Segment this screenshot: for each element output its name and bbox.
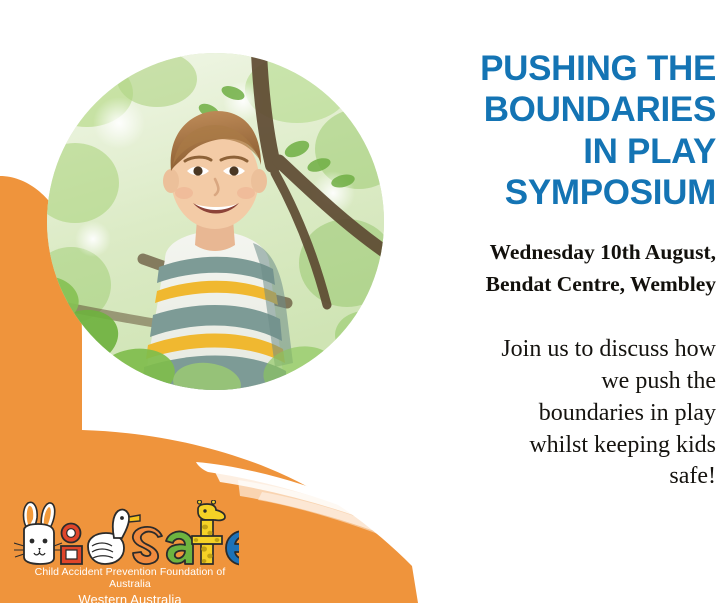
logo-letter-a: [166, 531, 193, 564]
logo-letter-s: [133, 527, 162, 564]
logo-letter-i: [61, 524, 82, 565]
poster-headline: PUSHING THE BOUNDARIES IN PLAY SYMPOSIUM: [424, 0, 716, 213]
event-date-line: Wednesday 10th August,: [424, 237, 716, 269]
event-details: Wednesday 10th August, Bendat Centre, We…: [424, 213, 716, 301]
headline-line-1: PUSHING THE: [424, 48, 716, 89]
hero-photo: [47, 53, 384, 390]
poster-canvas: PUSHING THE BOUNDARIES IN PLAY SYMPOSIUM…: [0, 0, 726, 603]
body-copy-line-2: we push the: [424, 366, 716, 398]
body-copy-line-3: boundaries in play: [424, 398, 716, 430]
body-copy-line-4: whilst keeping kids: [424, 430, 716, 462]
kidsafe-logo: ® Child Accident Prevention Foundation o…: [14, 500, 254, 596]
logo-region: Western Australia: [14, 593, 246, 603]
hero-photo-illustration: [47, 53, 384, 390]
headline-line-2: BOUNDARIES: [424, 89, 716, 130]
logo-letter-f-giraffe: [192, 500, 225, 564]
body-copy: Join us to discuss how we push the bound…: [424, 301, 716, 494]
logo-letter-e: [226, 531, 239, 565]
headline-line-4: SYMPOSIUM: [424, 172, 716, 213]
body-copy-line-5: safe!: [424, 461, 716, 493]
kidsafe-wordmark: ®: [14, 500, 239, 566]
headline-line-3: IN PLAY: [424, 131, 716, 172]
body-copy-line-1: Join us to discuss how: [424, 334, 716, 366]
logo-letter-k-rabbit: [14, 502, 63, 564]
logo-tagline: Child Accident Prevention Foundation of …: [14, 566, 246, 591]
event-venue-line: Bendat Centre, Wembley: [424, 269, 716, 301]
text-column: PUSHING THE BOUNDARIES IN PLAY SYMPOSIUM…: [424, 0, 716, 603]
